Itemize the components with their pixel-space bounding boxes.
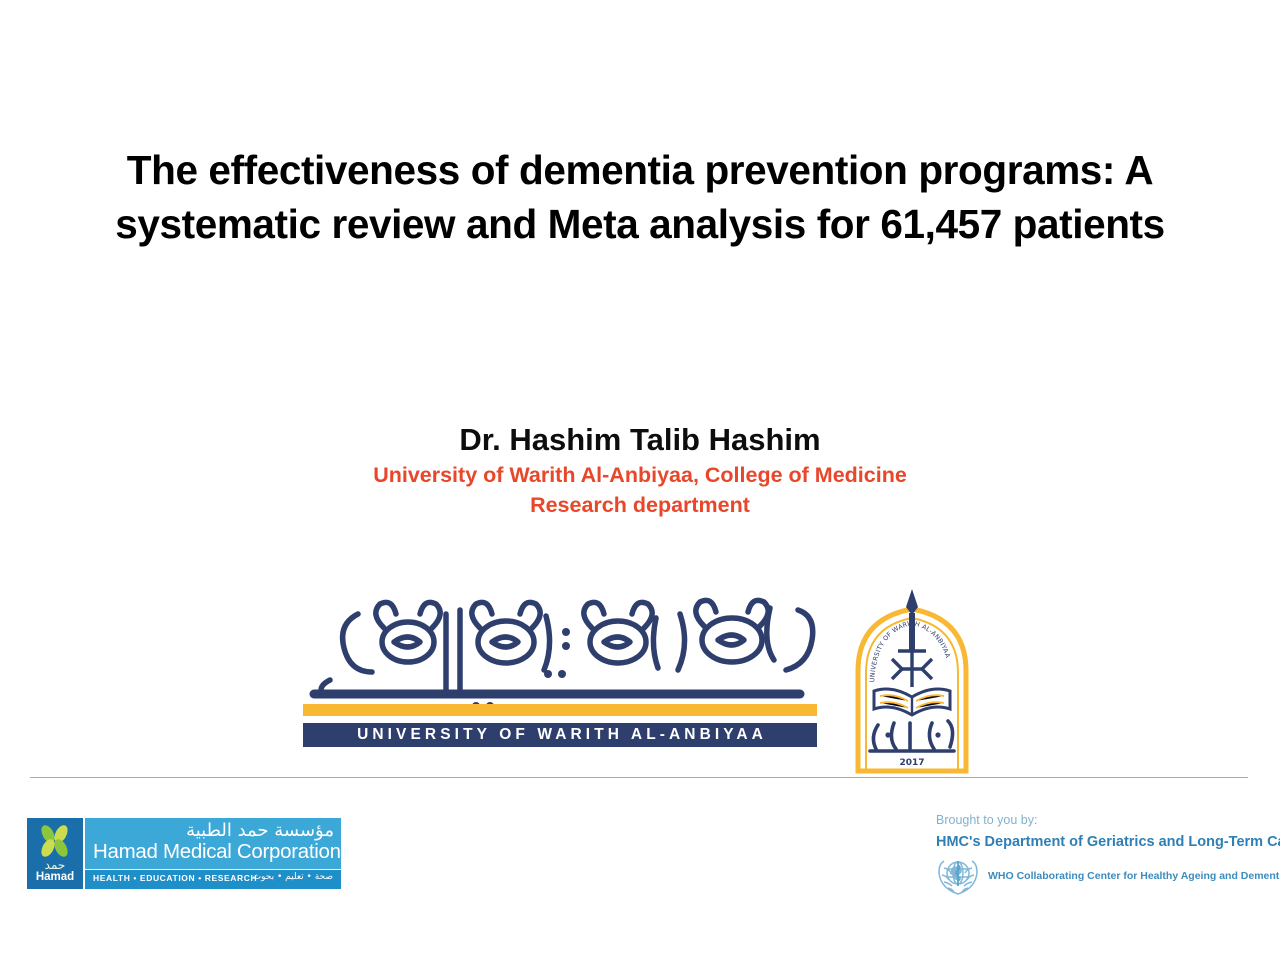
university-logo-banner-text: UNIVERSITY OF WARITH AL-ANBIYAA	[353, 726, 767, 744]
university-crest-emblem-icon: UNIVERSITY OF WARITH AL-ANBIYAA	[848, 585, 976, 775]
hamad-medical-corporation-logo: حمد Hamad مؤسسة حمد الطبية Hamad Medical…	[27, 818, 341, 889]
hmc-logo-mark-panel: حمد Hamad	[27, 818, 83, 889]
footer-divider	[30, 777, 1248, 778]
who-collaborating-center-label: WHO Collaborating Center for Healthy Age…	[988, 869, 1280, 883]
hmc-logo-name-panel: مؤسسة حمد الطبية Hamad Medical Corporati…	[83, 818, 341, 889]
hmc-english-name: Hamad Medical Corporation	[93, 840, 341, 864]
who-collaborating-center-row: WHO Collaborating Center for Healthy Age…	[936, 856, 1256, 896]
hmc-tagline-english: HEALTH • EDUCATION • RESEARCH	[93, 873, 257, 883]
who-emblem-icon	[936, 856, 980, 896]
brought-to-you-by-block: Brought to you by: HMC's Department of G…	[936, 812, 1256, 896]
hmc-arabic-name: مؤسسة حمد الطبية	[186, 820, 334, 842]
page-title: The effectiveness of dementia prevention…	[40, 143, 1240, 251]
hmc-mark-latin: Hamad	[27, 871, 83, 884]
university-wordmark-logo: UNIVERSITY OF WARITH AL-ANBIYAA	[300, 588, 820, 758]
title-line-2: systematic review and Meta analysis for …	[40, 197, 1240, 251]
title-slide: The effectiveness of dementia prevention…	[0, 0, 1280, 960]
university-logo-accent-bar	[303, 704, 817, 716]
affiliation-line-2: Research department	[140, 490, 1140, 520]
brought-to-you-by-label: Brought to you by:	[936, 812, 1256, 828]
hmc-leaf-mark-icon	[36, 824, 74, 858]
university-logo-banner: UNIVERSITY OF WARITH AL-ANBIYAA	[303, 723, 817, 747]
author-name: Dr. Hashim Talib Hashim	[140, 420, 1140, 460]
hmc-tagline-bar: HEALTH • EDUCATION • RESEARCH صحة • تعلي…	[85, 869, 341, 889]
hmc-department-label: HMC's Department of Geriatrics and Long-…	[936, 832, 1256, 852]
hmc-mark-arabic: حمد	[27, 858, 83, 872]
university-arabic-calligraphy-icon	[300, 588, 820, 716]
svg-text:2017: 2017	[899, 758, 924, 768]
affiliation-line-1: University of Warith Al-Anbiyaa, College…	[140, 460, 1140, 490]
author-block: Dr. Hashim Talib Hashim University of Wa…	[140, 420, 1140, 520]
hmc-tagline-arabic: صحة • تعليم • بحوث	[253, 872, 333, 882]
title-line-1: The effectiveness of dementia prevention…	[40, 143, 1240, 197]
